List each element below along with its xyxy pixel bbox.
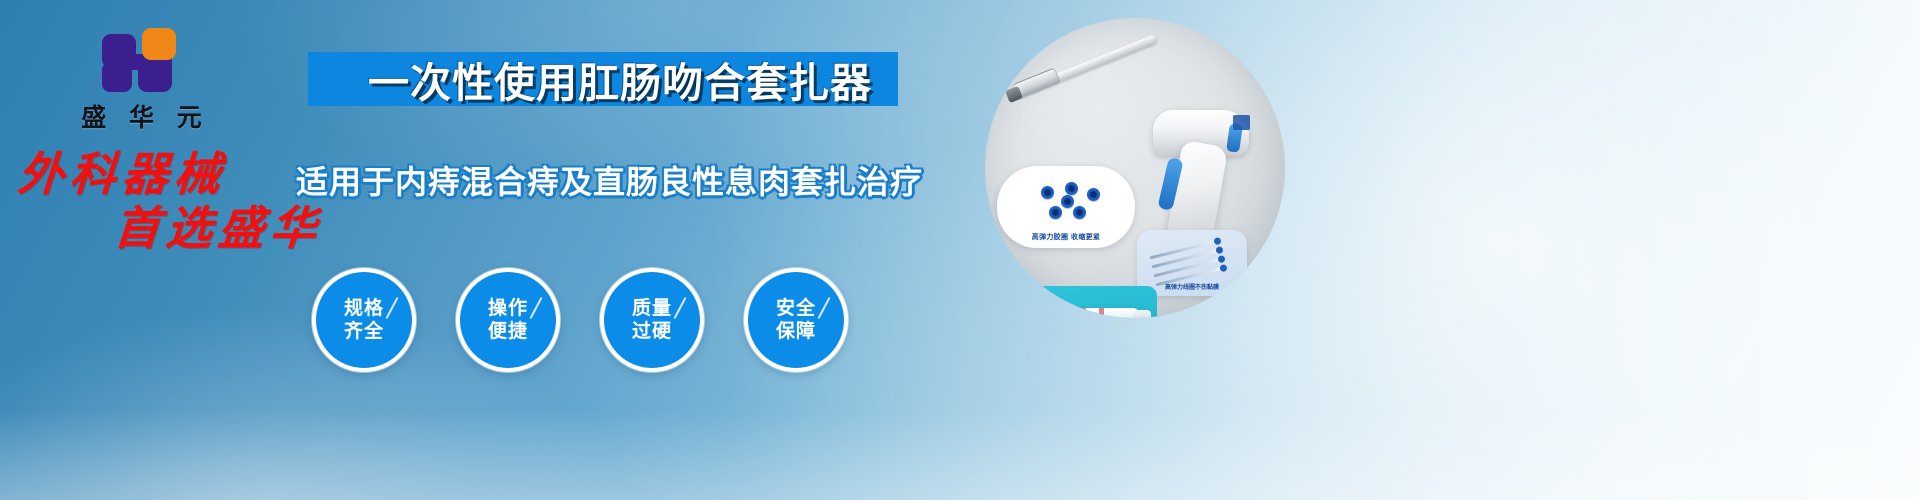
feature-badge-3-line-2: 过硬: [632, 320, 672, 343]
feature-badge-list: 规格 齐全 操作 便捷 质量 过硬 安全 保障: [312, 268, 848, 372]
bottom-light-fade: [0, 410, 1920, 500]
right-light-fade: [1360, 0, 1920, 500]
feature-badge-4[interactable]: 安全 保障: [744, 268, 848, 372]
feature-badge-1[interactable]: 规格 齐全: [312, 268, 416, 372]
logo-mark-icon: [102, 26, 188, 92]
feature-badge-3-line-1: 质量: [632, 297, 672, 320]
slash-accent-icon: [385, 297, 398, 319]
calligraphy-line-2: 首选盛华: [112, 204, 379, 252]
feature-badge-3[interactable]: 质量 过硬: [600, 268, 704, 372]
feature-badge-2-line-1: 操作: [488, 297, 528, 320]
feature-badge-1-line-2: 齐全: [344, 320, 384, 343]
tube-cap: [1133, 310, 1151, 318]
slash-accent-icon: [529, 297, 542, 319]
feature-badge-4-line-2: 保障: [776, 320, 816, 343]
promo-banner: 盛 华 元 外科器械 首选盛华 一次性使用肛肠吻合套扎器 适用于内痔混合痔及直肠…: [0, 0, 1920, 500]
applicator-label: [1233, 115, 1250, 130]
page-title: 一次性使用肛肠吻合套扎器: [330, 52, 910, 106]
brand-name: 盛 华 元: [60, 98, 230, 134]
feature-badge-4-line-1: 安全: [776, 297, 816, 320]
subtitle: 适用于内痔混合痔及直肠良性息肉套扎治疗: [296, 157, 916, 203]
slash-accent-icon: [673, 297, 686, 319]
inset-rubber-bands: 高弹力胶圈 收缩更紧: [997, 166, 1135, 248]
feature-badge-1-line-1: 规格: [344, 297, 384, 320]
product-photo: 高弹力胶圈 收缩更紧 高弹力线圈不伤黏膜: [985, 18, 1285, 318]
tube-body: [1043, 308, 1139, 318]
slash-accent-icon: [817, 297, 830, 319]
inset-needles: 高弹力线圈不伤黏膜: [1137, 230, 1247, 296]
feature-badge-2[interactable]: 操作 便捷: [456, 268, 560, 372]
inset-disposable-tube: [1029, 286, 1157, 318]
inset-bands-caption: 高弹力胶圈 收缩更紧: [997, 232, 1135, 242]
brand-logo[interactable]: 盛 华 元: [60, 26, 230, 134]
feature-badge-2-line-2: 便捷: [488, 320, 528, 343]
